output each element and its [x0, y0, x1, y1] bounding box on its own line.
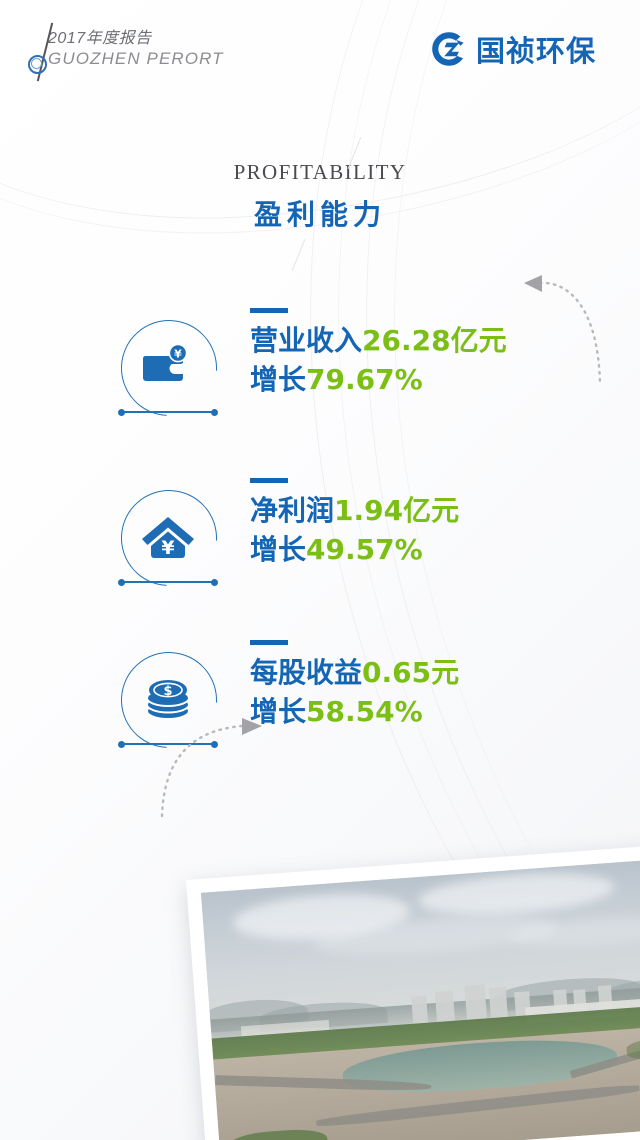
- report-page: 2017年度报告 GUOZHEN PERORT 国祯环保 PROFITABILI…: [0, 0, 640, 1140]
- decorative-slash-bottom: [292, 239, 306, 271]
- landscape-photo: [186, 842, 640, 1140]
- report-year-cn: 2017年度报告: [48, 30, 224, 49]
- stat-growth-value: 79.67%: [306, 363, 423, 396]
- svg-text:¥: ¥: [161, 537, 174, 559]
- photo-frame: [201, 857, 640, 1140]
- company-name: 国祯环保: [476, 28, 596, 70]
- stat-growth-line: 增长79.67%: [250, 361, 507, 400]
- dotted-arrow-upper: [520, 255, 640, 395]
- section-title-en: PROFITABILITY: [0, 160, 640, 185]
- stat-icon-container: ¥: [118, 320, 218, 420]
- section-title-cn: 盈利能力: [0, 193, 640, 233]
- stat-icon-container: ¥: [118, 490, 218, 590]
- stat-growth-line: 增长58.54%: [250, 693, 459, 732]
- wallet-icon: ¥: [142, 344, 194, 390]
- stat-text-block: 营业收入26.28亿元 增长79.67%: [250, 308, 507, 399]
- stat-text-block: 净利润1.94亿元 增长49.57%: [250, 478, 459, 569]
- report-title-en: GUOZHEN PERORT: [48, 49, 224, 69]
- icon-baseline: [118, 578, 218, 586]
- section-title: PROFITABILITY 盈利能力: [0, 160, 640, 233]
- stat-label: 营业收入: [250, 324, 362, 357]
- stat-accent-dash: [250, 308, 288, 313]
- house-yen-icon: ¥: [140, 514, 196, 560]
- stat-primary-line: 营业收入26.28亿元: [250, 322, 507, 361]
- report-title-group: 2017年度报告 GUOZHEN PERORT: [48, 30, 224, 68]
- stat-growth-label: 增长: [250, 363, 306, 396]
- page-header: 2017年度报告 GUOZHEN PERORT 国祯环保: [0, 0, 640, 96]
- stat-label: 净利润: [250, 494, 334, 527]
- stat-text-block: 每股收益0.65元 增长58.54%: [250, 640, 459, 731]
- stat-label: 每股收益: [250, 656, 362, 689]
- stat-row-eps: $ 每股收益0.65元 增长58.54%: [0, 652, 640, 782]
- stat-value: 1.94亿元: [334, 494, 459, 527]
- dotted-arrow-lower: [150, 700, 280, 820]
- icon-baseline: [118, 408, 218, 416]
- stat-row-net-profit: ¥ 净利润1.94亿元 增长49.57%: [0, 490, 640, 620]
- stat-growth-value: 58.54%: [306, 695, 423, 728]
- stat-accent-dash: [250, 640, 288, 645]
- stat-accent-dash: [250, 478, 288, 483]
- stat-growth-label: 增长: [250, 533, 306, 566]
- company-logo: 国祯环保: [429, 28, 596, 70]
- stat-growth-line: 增长49.57%: [250, 531, 459, 570]
- stat-value: 0.65元: [362, 656, 459, 689]
- svg-text:$: $: [163, 684, 172, 699]
- stat-value: 26.28亿元: [362, 324, 507, 357]
- guozhen-logo-icon: [429, 29, 469, 69]
- stat-primary-line: 净利润1.94亿元: [250, 492, 459, 531]
- stat-growth-value: 49.57%: [306, 533, 423, 566]
- svg-text:¥: ¥: [174, 348, 182, 361]
- stat-primary-line: 每股收益0.65元: [250, 654, 459, 693]
